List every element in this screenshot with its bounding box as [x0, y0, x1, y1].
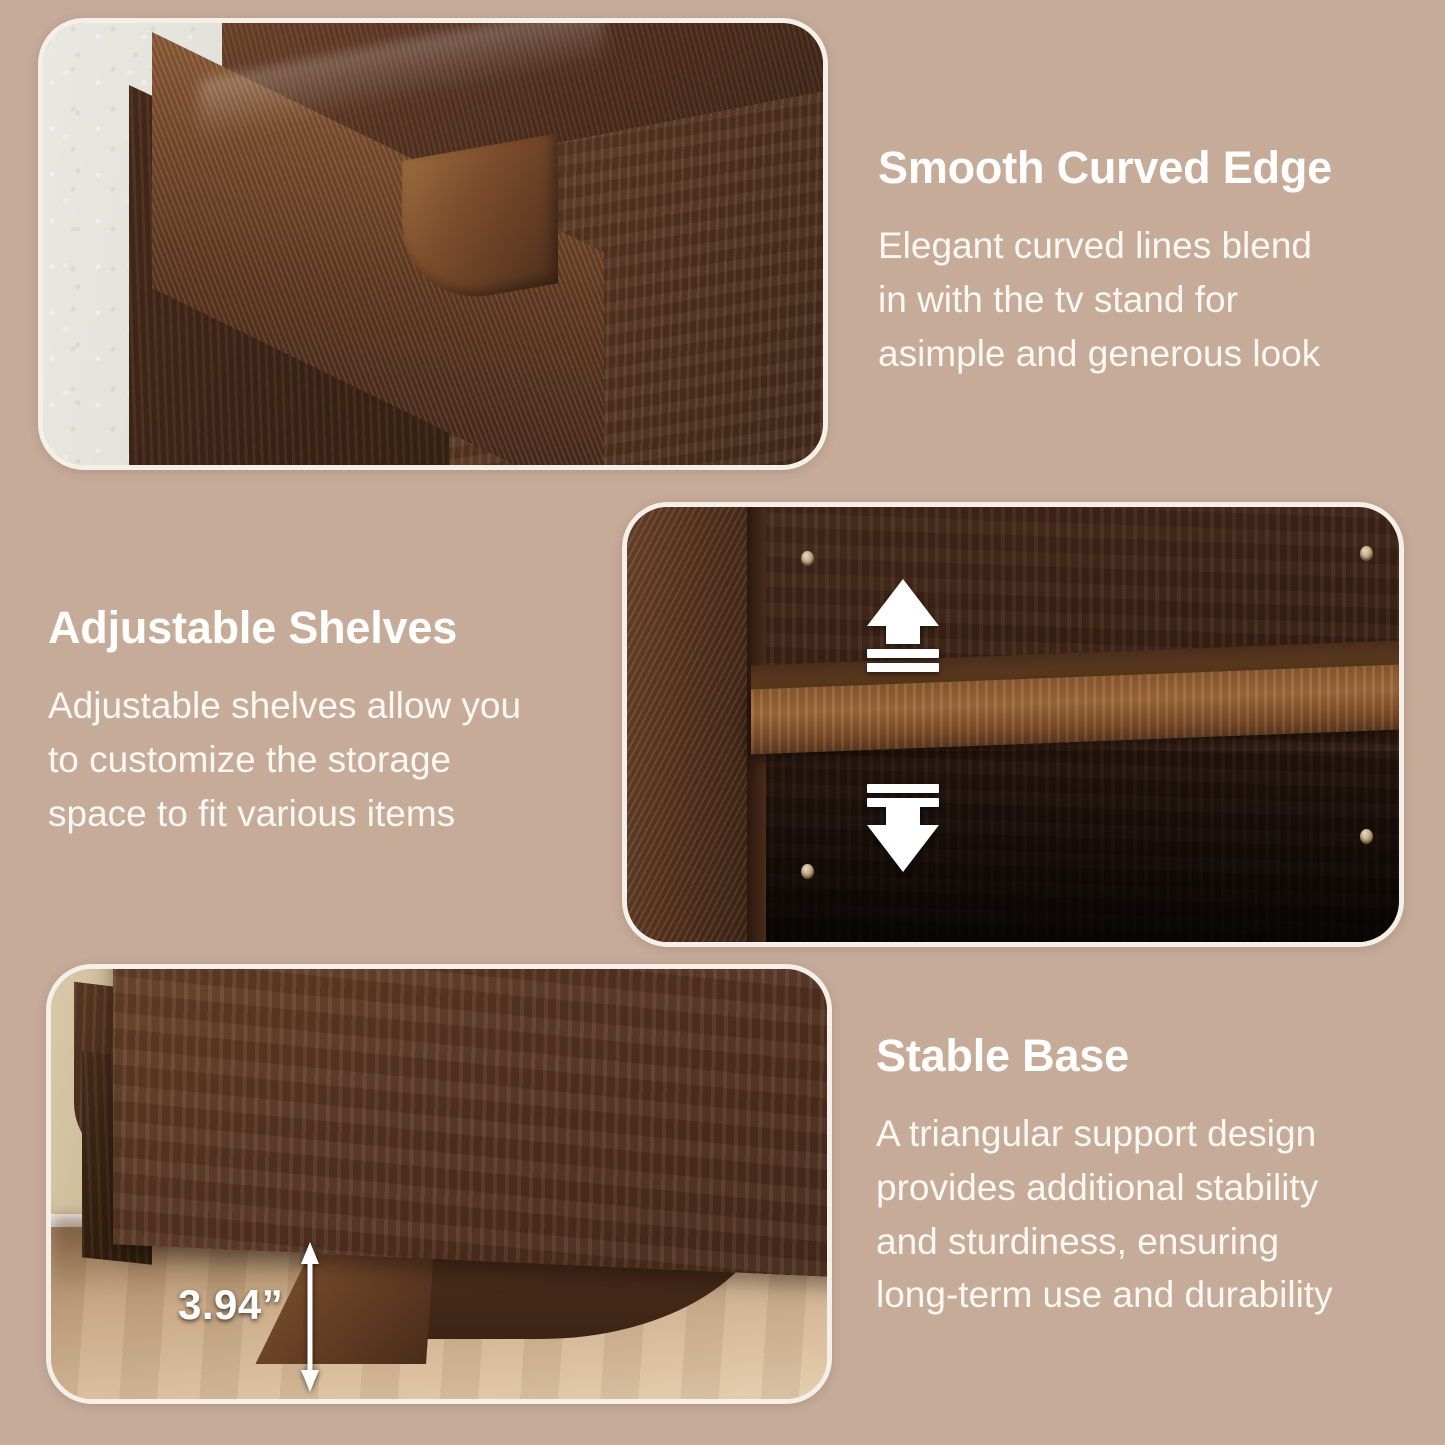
arrow-down-icon — [867, 779, 939, 872]
feature-description-line: A triangular support design — [876, 1107, 1416, 1161]
photo-content-shelves — [627, 507, 1399, 942]
dimension-label: 3.94” — [178, 1281, 283, 1329]
shelf-peg-hole — [801, 864, 814, 879]
feature-description-line: and sturdiness, ensuring — [876, 1215, 1416, 1269]
arrow-up-icon — [867, 579, 939, 672]
feature-description: Adjustable shelves allow you to customiz… — [48, 679, 618, 840]
photo-adjustable-shelves — [622, 502, 1404, 947]
infographic-canvas: 3.94” Smooth Curved Edge Elegant curved … — [0, 0, 1445, 1445]
cabinet-body — [113, 969, 827, 1279]
feature-description-line: asimple and generous look — [878, 327, 1408, 381]
cabinet-left-panel — [627, 507, 751, 942]
feature-text-stable-base: Stable Base A triangular support design … — [876, 1031, 1416, 1322]
feature-heading: Adjustable Shelves — [48, 603, 618, 653]
feature-description-line: provides additional stability — [876, 1161, 1416, 1215]
photo-smooth-curved-edge — [38, 18, 828, 470]
feature-description-line: Adjustable shelves allow you — [48, 679, 618, 733]
feature-description: Elegant curved lines blend in with the t… — [878, 219, 1408, 380]
double-headed-vertical-arrow-icon — [300, 1242, 320, 1392]
feature-heading: Stable Base — [876, 1031, 1416, 1081]
feature-heading: Smooth Curved Edge — [878, 143, 1408, 193]
feature-description: A triangular support design provides add… — [876, 1107, 1416, 1322]
photo-stable-base — [46, 964, 832, 1404]
photo-content-curved-edge — [43, 23, 823, 465]
feature-text-adjustable-shelves: Adjustable Shelves Adjustable shelves al… — [48, 603, 618, 840]
feature-text-smooth-curved-edge: Smooth Curved Edge Elegant curved lines … — [878, 143, 1408, 380]
feature-description-line: Elegant curved lines blend — [878, 219, 1408, 273]
photo-content-base — [51, 969, 827, 1399]
shelf-peg-hole — [801, 551, 814, 566]
feature-description-line: long-term use and durability — [876, 1268, 1416, 1322]
feature-description-line: in with the tv stand for — [878, 273, 1408, 327]
feature-description-line: space to fit various items — [48, 787, 618, 841]
feature-description-line: to customize the storage — [48, 733, 618, 787]
